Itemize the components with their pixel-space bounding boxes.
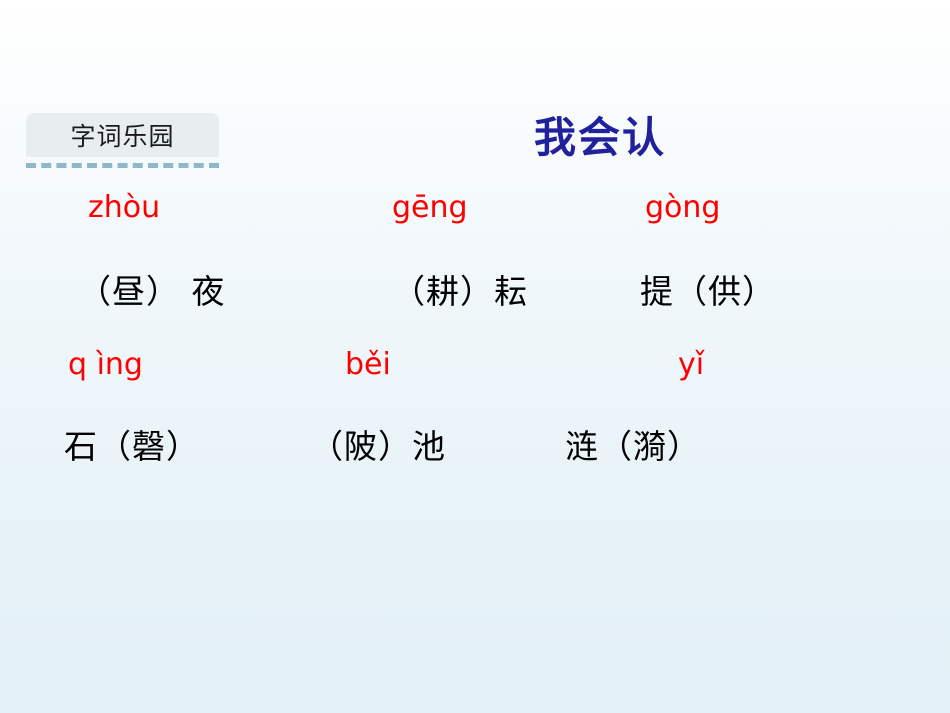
pinyin-2-2: běi (345, 347, 391, 382)
pinyin-1-2: gēng (392, 190, 468, 225)
page-title: 我会认 (534, 104, 666, 165)
hanzi-2-3: 涟（漪） (565, 420, 701, 468)
pinyin-1-1: zhòu (88, 190, 160, 225)
hanzi-1-2: （耕）耘 (392, 265, 528, 313)
pinyin-2-1: q ìng (68, 347, 143, 382)
hanzi-1-3: 提（供） (640, 265, 776, 313)
dashed-divider (26, 163, 219, 168)
hanzi-2-2: （陂）池 (310, 420, 446, 468)
section-tab: 字词乐园 (26, 113, 219, 157)
slide-canvas: 字词乐园 我会认 zhòu gēng gòng （昼） 夜 （耕）耘 提（供） … (0, 0, 950, 713)
pinyin-1-3: gòng (645, 190, 720, 225)
section-tab-label: 字词乐园 (70, 117, 174, 153)
hanzi-1-1: （昼） 夜 (78, 265, 226, 313)
pinyin-2-3: yǐ (678, 347, 704, 382)
hanzi-2-1: 石（磬） (64, 420, 200, 468)
